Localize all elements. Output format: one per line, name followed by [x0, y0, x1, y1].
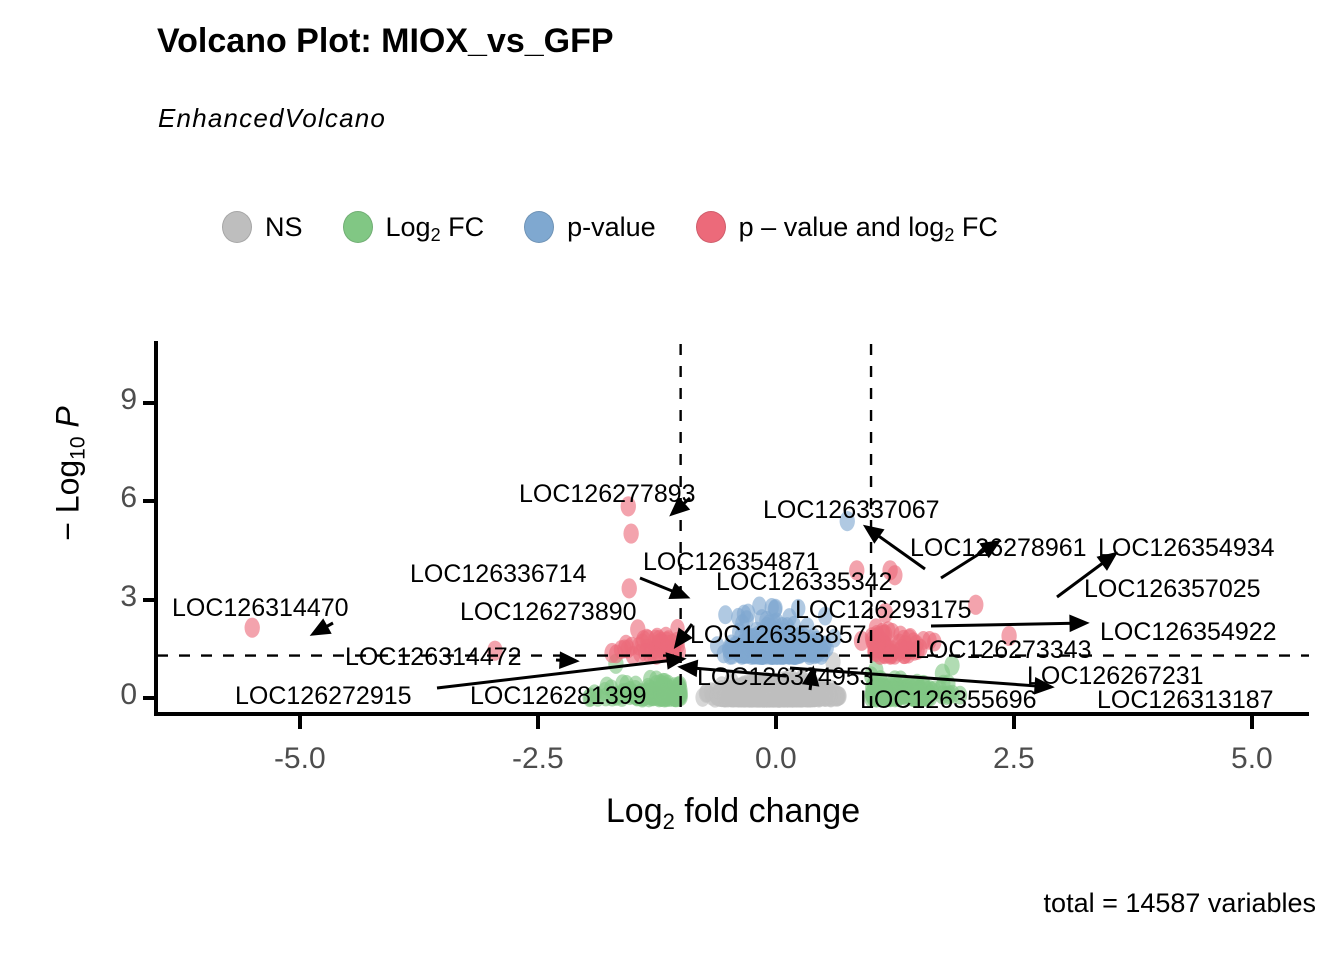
gene-label: LOC126353857 — [690, 623, 867, 648]
y-tick-mark — [143, 598, 155, 602]
gene-label: LOC126293175 — [795, 598, 972, 623]
legend-label-pvalue: p-value — [567, 214, 656, 241]
gene-label: LOC126336714 — [410, 562, 587, 587]
leader-arrowhead — [313, 621, 329, 634]
scatter-point — [657, 684, 671, 703]
x-tick-label: -2.5 — [478, 742, 598, 776]
legend-label-ns: NS — [265, 214, 303, 241]
page-title: Volcano Plot: MIOX_vs_GFP — [157, 22, 614, 61]
gene-label: LOC126334953 — [697, 665, 874, 690]
gene-label: LOC126314472 — [345, 645, 522, 670]
gene-label: LOC126281399 — [470, 684, 647, 709]
plot-subtitle: EnhancedVolcano — [158, 103, 386, 134]
gene-label: LOC126314470 — [172, 596, 349, 621]
y-tick-mark — [143, 499, 155, 503]
y-tick-label: 0 — [77, 678, 137, 712]
legend-item-ns[interactable]: NS — [222, 211, 303, 243]
y-tick-mark — [143, 401, 155, 405]
scatter-point — [623, 524, 638, 544]
gene-label: LOC126337067 — [763, 498, 940, 523]
legend-swatch-pvalue-and-log2fc — [696, 211, 726, 243]
legend-swatch-pvalue — [524, 211, 554, 243]
leader-arrowhead — [681, 662, 697, 675]
scatter-point — [884, 644, 898, 663]
gene-label: LOC126313187 — [1097, 688, 1274, 713]
legend-label-pvalue-and-log2fc: p – value and log2 FC — [739, 214, 998, 241]
leader-arrowhead — [671, 585, 687, 597]
gene-label: LOC126272915 — [235, 684, 412, 709]
leader-arrowhead — [1071, 617, 1086, 630]
gene-label: LOC126273890 — [460, 600, 637, 625]
gene-label: LOC126354922 — [1100, 620, 1277, 645]
leader-arrowhead — [561, 654, 576, 667]
gene-label: LOC126335342 — [716, 570, 893, 595]
x-tick-mark — [1012, 716, 1016, 729]
legend-item-pvalue-and-log2fc[interactable]: p – value and log2 FC — [696, 211, 998, 243]
gene-label: LOC126355696 — [860, 688, 1037, 713]
legend-item-pvalue[interactable]: p-value — [524, 211, 656, 243]
plot-caption: total = 14587 variables — [1044, 888, 1316, 919]
scatter-point — [871, 638, 885, 657]
y-tick-mark — [143, 696, 155, 700]
legend-swatch-ns — [222, 211, 252, 243]
y-axis-line — [154, 341, 158, 716]
x-tick-label: 0.0 — [716, 742, 836, 776]
x-tick-label: 5.0 — [1192, 742, 1312, 776]
legend-swatch-log2fc — [343, 211, 373, 243]
legend-item-log2fc[interactable]: Log2 FC — [343, 211, 485, 243]
x-tick-mark — [298, 716, 302, 729]
x-tick-label: 2.5 — [954, 742, 1074, 776]
volcano-plot-panel[interactable] — [157, 344, 1309, 713]
gene-label: LOC126277893 — [519, 482, 696, 507]
x-tick-mark — [1250, 716, 1254, 729]
gene-label: LOC126357025 — [1084, 577, 1261, 602]
scatter-point — [622, 578, 637, 598]
x-tick-mark — [774, 716, 778, 729]
legend: NS Log2 FC p-value p – value and log2 FC — [222, 205, 1038, 249]
x-axis-label: Log2 fold change — [157, 792, 1309, 831]
legend-label-log2fc: Log2 FC — [386, 214, 485, 241]
x-tick-mark — [536, 716, 540, 729]
scatter-canvas — [157, 344, 1309, 713]
y-axis-label: − Log10 P — [50, 344, 87, 604]
gene-label: LOC126273343 — [915, 638, 1092, 663]
x-tick-label: -5.0 — [240, 742, 360, 776]
gene-label: LOC126278961 — [910, 536, 1087, 561]
leader-arrowhead — [866, 527, 882, 541]
scatter-point — [604, 643, 619, 663]
gene-label: LOC126354934 — [1098, 536, 1275, 561]
